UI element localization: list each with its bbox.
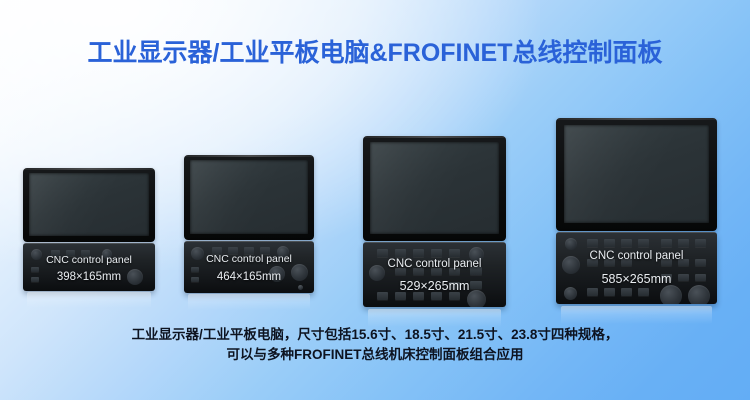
square-button[interactable] [695, 239, 706, 247]
caption-line-1: 工业显示器/工业平板电脑，尺寸包括15.6寸、18.5寸、21.5寸、23.8寸… [0, 325, 750, 345]
panel-dimension-1: 398×165mm [23, 271, 155, 283]
square-button[interactable] [413, 292, 424, 300]
panel-label-2: CNC control panel [184, 253, 314, 265]
square-button[interactable] [604, 288, 615, 296]
knob-icon[interactable] [565, 238, 577, 250]
square-button[interactable] [621, 239, 632, 247]
square-button[interactable] [431, 249, 442, 257]
device-reflection [561, 306, 712, 324]
device-reflection [188, 294, 310, 310]
panel-dimension-3: 529×265mm [363, 279, 506, 293]
square-button[interactable] [395, 292, 406, 300]
knob-icon[interactable] [688, 285, 710, 304]
display-screen-4 [564, 125, 709, 223]
knob-icon[interactable] [660, 285, 682, 304]
display-screen-2 [190, 160, 308, 234]
monitor-bezel-4 [556, 118, 717, 231]
square-button[interactable] [587, 288, 598, 296]
square-button[interactable] [638, 239, 649, 247]
square-button[interactable] [377, 292, 388, 300]
display-screen-3 [370, 142, 499, 234]
square-button[interactable] [449, 249, 460, 257]
device-card-3[interactable]: CNC control panel 529×265mm [363, 136, 506, 307]
square-button[interactable] [604, 239, 615, 247]
device-card-4[interactable]: CNC control panel 585×265mm [556, 118, 717, 304]
device-reflection [27, 292, 151, 308]
control-panel-2[interactable]: CNC control panel 464×165mm [184, 241, 314, 293]
square-button[interactable] [587, 239, 598, 247]
panel-label-3: CNC control panel [363, 258, 506, 270]
panel-dimension-2: 464×165mm [184, 271, 314, 283]
square-button[interactable] [678, 239, 689, 247]
monitor-bezel-1 [23, 168, 155, 242]
knob-icon[interactable] [564, 287, 577, 300]
caption-line-2: 可以与多种FROFINET总线机床控制面板组合应用 [0, 345, 750, 365]
square-button[interactable] [661, 239, 672, 247]
monitor-bezel-2 [184, 155, 314, 240]
display-screen-1 [29, 173, 149, 236]
square-button[interactable] [431, 292, 442, 300]
page-title: 工业显示器/工业平板电脑&FROFINET总线控制面板 [0, 33, 750, 69]
poster-canvas: 工业显示器/工业平板电脑&FROFINET总线控制面板 CNC control … [0, 0, 750, 400]
device-card-2[interactable]: CNC control panel 464×165mm [184, 155, 314, 293]
panel-dimension-4: 585×265mm [556, 272, 717, 286]
device-card-1[interactable]: CNC control panel 398×165mm [23, 168, 155, 291]
square-button[interactable] [377, 249, 388, 257]
panel-label-4: CNC control panel [556, 250, 717, 262]
square-button[interactable] [413, 249, 424, 257]
knob-icon[interactable] [298, 285, 303, 290]
control-panel-3[interactable]: CNC control panel 529×265mm [363, 242, 506, 307]
square-button[interactable] [449, 292, 460, 300]
square-button[interactable] [395, 249, 406, 257]
square-button[interactable] [638, 288, 649, 296]
control-panel-4[interactable]: CNC control panel 585×265mm [556, 232, 717, 304]
caption-block: 工业显示器/工业平板电脑，尺寸包括15.6寸、18.5寸、21.5寸、23.8寸… [0, 325, 750, 365]
square-button[interactable] [621, 288, 632, 296]
control-panel-1[interactable]: CNC control panel 398×165mm [23, 243, 155, 291]
panel-label-1: CNC control panel [23, 254, 155, 266]
monitor-bezel-3 [363, 136, 506, 241]
